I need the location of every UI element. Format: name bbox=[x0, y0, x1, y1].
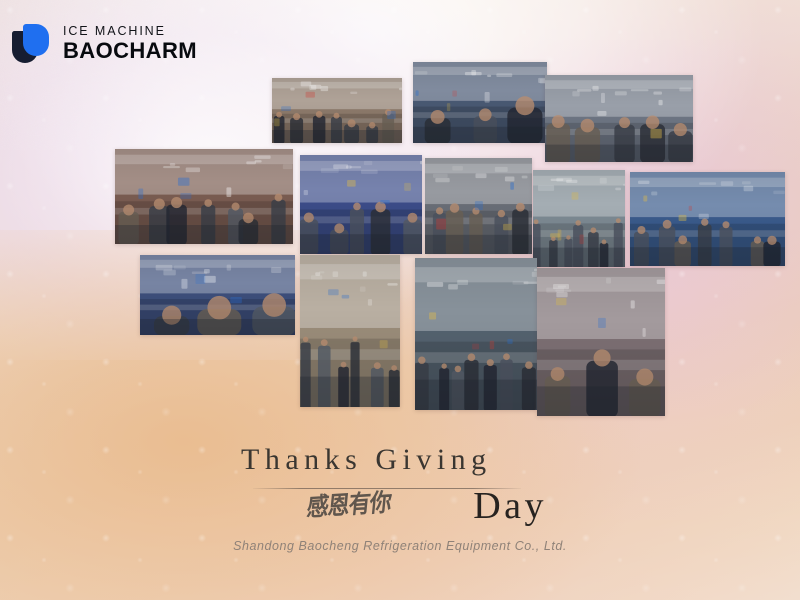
photo-vignette bbox=[115, 149, 293, 244]
collage-photo-loaded-truck-shipment bbox=[533, 170, 625, 267]
photo-vignette bbox=[413, 62, 547, 143]
brand-logo[interactable]: ICE MACHINE BAOCHARM bbox=[12, 24, 197, 64]
drop-blue-shape bbox=[23, 24, 49, 56]
thanksgiving-headline: Thanks Giving 感恩有你 Day bbox=[235, 443, 565, 533]
brand-wordmark: BAOCHARM bbox=[63, 40, 197, 62]
collage-photo-overseas-partner-handshake bbox=[415, 258, 537, 410]
headline-thanks-giving: Thanks Giving bbox=[241, 443, 492, 477]
photo-vignette bbox=[630, 172, 785, 266]
photo-vignette bbox=[300, 155, 422, 254]
photo-vignette bbox=[425, 158, 532, 254]
photo-vignette bbox=[272, 78, 402, 143]
photo-vignette bbox=[300, 255, 400, 407]
collage-photo-trade-show-booth-discussion bbox=[545, 75, 693, 162]
footer-block: Thanks Giving 感恩有你 Day Shandong Baocheng… bbox=[0, 443, 800, 553]
collage-photo-handshake-signing-table bbox=[413, 62, 547, 143]
collage-photo-middle-east-client-handshake bbox=[300, 255, 400, 407]
brand-tagline: ICE MACHINE bbox=[63, 25, 197, 38]
background-grain-texture bbox=[0, 0, 300, 150]
photo-vignette bbox=[140, 255, 295, 335]
thanksgiving-poster: ICE MACHINE BAOCHARM Thanks Giving 感恩有你 … bbox=[0, 0, 800, 600]
photo-vignette bbox=[533, 170, 625, 267]
brand-logo-text: ICE MACHINE BAOCHARM bbox=[63, 25, 197, 63]
collage-photo-blue-ice-plant-assembly bbox=[630, 172, 785, 266]
collage-photo-expo-brochure-conversation bbox=[537, 268, 665, 416]
collage-photo-workshop-machine-line bbox=[140, 255, 295, 335]
collage-photo-ice-machine-signing-ceremony bbox=[300, 155, 422, 254]
photo-vignette bbox=[545, 75, 693, 162]
photo-vignette bbox=[415, 258, 537, 410]
collage-photo-conference-room-meeting bbox=[272, 78, 402, 143]
chinese-calligraphy: 感恩有你 bbox=[305, 482, 392, 523]
water-drop-logo-icon bbox=[12, 24, 54, 64]
headline-day: Day bbox=[473, 484, 547, 528]
collage-photo-factory-inspection-helmets bbox=[115, 149, 293, 244]
photo-vignette bbox=[537, 268, 665, 416]
collage-photo-exhibition-portrait-pair bbox=[425, 158, 532, 254]
company-name: Shandong Baocheng Refrigeration Equipmen… bbox=[0, 539, 800, 553]
